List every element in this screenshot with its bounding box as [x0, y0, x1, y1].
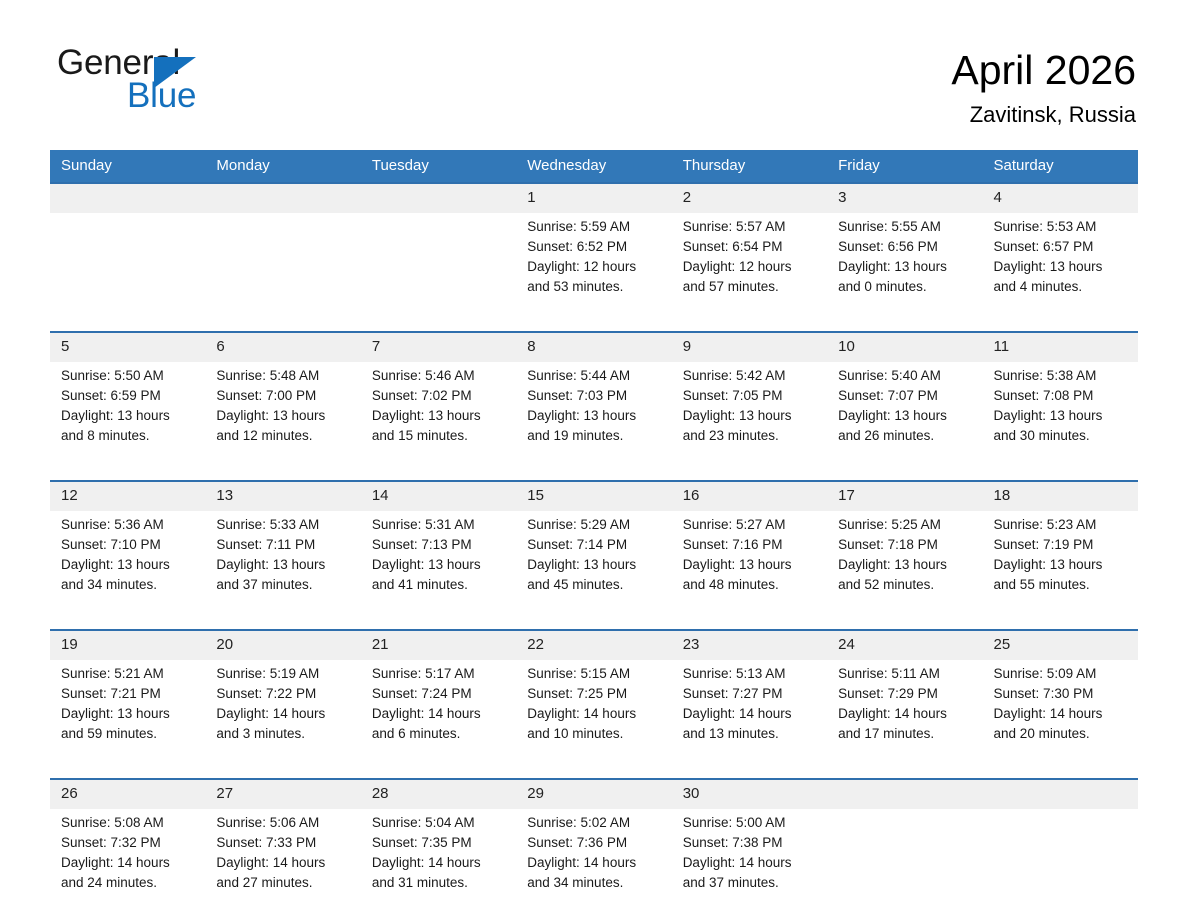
day-detail-line: Daylight: 14 hours [527, 853, 661, 873]
day-detail-line: Sunset: 7:05 PM [683, 386, 817, 406]
day-detail-line: and 55 minutes. [994, 575, 1128, 595]
weekday-header-row: Sunday Monday Tuesday Wednesday Thursday… [50, 150, 1138, 182]
day-detail-line: Sunset: 7:35 PM [372, 833, 506, 853]
day-detail-line: Daylight: 13 hours [994, 257, 1128, 277]
day-detail-line: Sunset: 7:27 PM [683, 684, 817, 704]
day-number[interactable]: 4 [983, 184, 1138, 213]
day-detail-line: Sunset: 7:33 PM [216, 833, 350, 853]
day-number[interactable]: 24 [827, 631, 982, 660]
day-detail-line: and 3 minutes. [216, 724, 350, 744]
day-number[interactable]: 19 [50, 631, 205, 660]
day-detail-line: and 57 minutes. [683, 277, 817, 297]
day-detail-line: Sunset: 7:36 PM [527, 833, 661, 853]
day-detail-line: Sunset: 6:56 PM [838, 237, 972, 257]
day-detail-cell[interactable]: Sunrise: 5:09 AMSunset: 7:30 PMDaylight:… [983, 660, 1138, 768]
day-detail-line: Daylight: 14 hours [216, 704, 350, 724]
day-detail-line: Sunrise: 5:57 AM [683, 217, 817, 237]
day-detail-cell[interactable]: Sunrise: 5:27 AMSunset: 7:16 PMDaylight:… [672, 511, 827, 619]
calendar-head: Sunday Monday Tuesday Wednesday Thursday… [50, 150, 1138, 182]
day-detail-line: Daylight: 13 hours [61, 406, 195, 426]
day-detail-line: and 4 minutes. [994, 277, 1128, 297]
day-detail-line: Sunrise: 5:33 AM [216, 515, 350, 535]
week-gap-cell [50, 768, 1138, 778]
day-detail-line: Daylight: 13 hours [527, 406, 661, 426]
day-number[interactable]: 12 [50, 482, 205, 511]
day-detail-line: Daylight: 14 hours [683, 853, 817, 873]
day-detail-line: Sunset: 6:57 PM [994, 237, 1128, 257]
day-number[interactable]: 17 [827, 482, 982, 511]
day-detail-line: Sunrise: 5:25 AM [838, 515, 972, 535]
week-gap [50, 619, 1138, 629]
day-detail-line: Sunrise: 5:42 AM [683, 366, 817, 386]
day-detail-line: Daylight: 14 hours [61, 853, 195, 873]
week-gap-cell [50, 619, 1138, 629]
day-number[interactable]: 26 [50, 780, 205, 809]
day-detail-line: and 10 minutes. [527, 724, 661, 744]
weekday-header-wednesday: Wednesday [516, 150, 671, 182]
day-number[interactable]: 11 [983, 333, 1138, 362]
day-detail-line: Sunrise: 5:23 AM [994, 515, 1128, 535]
day-detail-line: Sunrise: 5:17 AM [372, 664, 506, 684]
day-detail-line: Sunset: 7:24 PM [372, 684, 506, 704]
day-detail-line: Sunrise: 5:11 AM [838, 664, 972, 684]
calendar-body: 1234Sunrise: 5:59 AMSunset: 6:52 PMDayli… [50, 182, 1138, 917]
day-number[interactable]: 6 [205, 333, 360, 362]
day-detail-line: Daylight: 13 hours [994, 406, 1128, 426]
day-detail-cell[interactable]: Sunrise: 5:46 AMSunset: 7:02 PMDaylight:… [361, 362, 516, 470]
day-number-empty [205, 184, 360, 213]
day-detail-line: Sunset: 6:59 PM [61, 386, 195, 406]
day-number-empty [827, 780, 982, 809]
day-detail-line: Sunset: 7:19 PM [994, 535, 1128, 555]
day-detail-line: Sunrise: 5:48 AM [216, 366, 350, 386]
day-detail-cell[interactable]: Sunrise: 5:40 AMSunset: 7:07 PMDaylight:… [827, 362, 982, 470]
day-detail-cell-empty [827, 809, 982, 917]
day-detail-cell[interactable]: Sunrise: 5:48 AMSunset: 7:00 PMDaylight:… [205, 362, 360, 470]
day-detail-line: Sunset: 7:07 PM [838, 386, 972, 406]
day-detail-line: and 6 minutes. [372, 724, 506, 744]
general-blue-logo[interactable]: General Blue [57, 44, 287, 124]
day-detail-line: Sunrise: 5:55 AM [838, 217, 972, 237]
day-number[interactable]: 18 [983, 482, 1138, 511]
day-detail-line: Sunrise: 5:06 AM [216, 813, 350, 833]
day-detail-line: and 20 minutes. [994, 724, 1128, 744]
day-number[interactable]: 10 [827, 333, 982, 362]
day-detail-line: Daylight: 13 hours [216, 406, 350, 426]
day-detail-cell[interactable]: Sunrise: 5:38 AMSunset: 7:08 PMDaylight:… [983, 362, 1138, 470]
page-header: General Blue April 2026 Zavitinsk, Russi… [0, 0, 1188, 150]
day-detail-line: and 45 minutes. [527, 575, 661, 595]
day-detail-line: and 17 minutes. [838, 724, 972, 744]
day-detail-line: and 27 minutes. [216, 873, 350, 893]
day-detail-line: Sunrise: 5:19 AM [216, 664, 350, 684]
day-detail-cell[interactable]: Sunrise: 5:57 AMSunset: 6:54 PMDaylight:… [672, 213, 827, 321]
day-detail-line: Daylight: 14 hours [372, 704, 506, 724]
day-number-empty [50, 184, 205, 213]
day-detail-cell[interactable]: Sunrise: 5:36 AMSunset: 7:10 PMDaylight:… [50, 511, 205, 619]
day-number[interactable]: 23 [672, 631, 827, 660]
day-detail-line: and 30 minutes. [994, 426, 1128, 446]
day-detail-line: and 19 minutes. [527, 426, 661, 446]
day-detail-row: Sunrise: 5:50 AMSunset: 6:59 PMDaylight:… [50, 362, 1138, 470]
day-number[interactable]: 9 [672, 333, 827, 362]
calendar-table: Sunday Monday Tuesday Wednesday Thursday… [50, 150, 1138, 917]
day-number-row: 12131415161718 [50, 482, 1138, 511]
day-number[interactable]: 25 [983, 631, 1138, 660]
day-detail-line: and 34 minutes. [527, 873, 661, 893]
day-detail-cell[interactable]: Sunrise: 5:50 AMSunset: 6:59 PMDaylight:… [50, 362, 205, 470]
day-detail-row: Sunrise: 5:59 AMSunset: 6:52 PMDaylight:… [50, 213, 1138, 321]
weekday-header-friday: Friday [827, 150, 982, 182]
day-detail-cell-empty [50, 213, 205, 321]
day-detail-line: Daylight: 12 hours [527, 257, 661, 277]
day-detail-line: Sunset: 7:38 PM [683, 833, 817, 853]
day-detail-cell[interactable]: Sunrise: 5:23 AMSunset: 7:19 PMDaylight:… [983, 511, 1138, 619]
day-detail-line: Sunset: 7:00 PM [216, 386, 350, 406]
day-number[interactable]: 2 [672, 184, 827, 213]
day-detail-line: Sunrise: 5:50 AM [61, 366, 195, 386]
day-detail-row: Sunrise: 5:08 AMSunset: 7:32 PMDaylight:… [50, 809, 1138, 917]
day-number[interactable]: 14 [361, 482, 516, 511]
day-detail-cell-empty [983, 809, 1138, 917]
day-detail-cell[interactable]: Sunrise: 5:21 AMSunset: 7:21 PMDaylight:… [50, 660, 205, 768]
day-detail-line: Daylight: 14 hours [683, 704, 817, 724]
day-detail-line: Sunset: 7:29 PM [838, 684, 972, 704]
day-number[interactable]: 16 [672, 482, 827, 511]
day-detail-line: Daylight: 14 hours [838, 704, 972, 724]
day-detail-line: Sunset: 7:32 PM [61, 833, 195, 853]
day-detail-cell[interactable]: Sunrise: 5:55 AMSunset: 6:56 PMDaylight:… [827, 213, 982, 321]
day-number[interactable]: 29 [516, 780, 671, 809]
day-detail-line: and 13 minutes. [683, 724, 817, 744]
day-detail-line: and 31 minutes. [372, 873, 506, 893]
day-number[interactable]: 20 [205, 631, 360, 660]
day-detail-line: Daylight: 13 hours [61, 704, 195, 724]
title-block: April 2026 Zavitinsk, Russia [951, 44, 1136, 130]
day-number-row: 1234 [50, 184, 1138, 213]
day-detail-line: Daylight: 14 hours [372, 853, 506, 873]
day-detail-line: Sunrise: 5:53 AM [994, 217, 1128, 237]
week-gap [50, 321, 1138, 331]
weekday-header-monday: Monday [205, 150, 360, 182]
day-detail-line: and 34 minutes. [61, 575, 195, 595]
day-detail-row: Sunrise: 5:36 AMSunset: 7:10 PMDaylight:… [50, 511, 1138, 619]
day-detail-cell[interactable]: Sunrise: 5:08 AMSunset: 7:32 PMDaylight:… [50, 809, 205, 917]
day-detail-cell[interactable]: Sunrise: 5:06 AMSunset: 7:33 PMDaylight:… [205, 809, 360, 917]
day-detail-line: and 59 minutes. [61, 724, 195, 744]
day-number[interactable]: 7 [361, 333, 516, 362]
day-detail-line: and 0 minutes. [838, 277, 972, 297]
day-detail-line: Sunrise: 5:59 AM [527, 217, 661, 237]
day-number[interactable]: 28 [361, 780, 516, 809]
day-detail-line: and 48 minutes. [683, 575, 817, 595]
day-detail-cell[interactable]: Sunrise: 5:15 AMSunset: 7:25 PMDaylight:… [516, 660, 671, 768]
day-detail-line: Sunrise: 5:36 AM [61, 515, 195, 535]
day-detail-row: Sunrise: 5:21 AMSunset: 7:21 PMDaylight:… [50, 660, 1138, 768]
day-detail-line: Daylight: 13 hours [372, 555, 506, 575]
day-detail-line: Sunset: 7:18 PM [838, 535, 972, 555]
day-detail-line: Daylight: 13 hours [527, 555, 661, 575]
day-number[interactable]: 27 [205, 780, 360, 809]
week-gap-cell [50, 470, 1138, 480]
day-detail-line: Sunset: 7:30 PM [994, 684, 1128, 704]
day-detail-cell[interactable]: Sunrise: 5:02 AMSunset: 7:36 PMDaylight:… [516, 809, 671, 917]
day-detail-line: Sunset: 7:13 PM [372, 535, 506, 555]
day-number-row: 2627282930 [50, 780, 1138, 809]
day-detail-line: Daylight: 13 hours [61, 555, 195, 575]
day-number-row: 19202122232425 [50, 631, 1138, 660]
week-gap [50, 768, 1138, 778]
logo-text-blue: Blue [127, 78, 287, 114]
day-detail-cell[interactable]: Sunrise: 5:19 AMSunset: 7:22 PMDaylight:… [205, 660, 360, 768]
weekday-header-sunday: Sunday [50, 150, 205, 182]
day-detail-cell[interactable]: Sunrise: 5:11 AMSunset: 7:29 PMDaylight:… [827, 660, 982, 768]
day-detail-cell[interactable]: Sunrise: 5:44 AMSunset: 7:03 PMDaylight:… [516, 362, 671, 470]
day-number[interactable]: 1 [516, 184, 671, 213]
day-detail-line: Daylight: 14 hours [994, 704, 1128, 724]
day-detail-line: and 26 minutes. [838, 426, 972, 446]
day-detail-line: Sunset: 7:21 PM [61, 684, 195, 704]
day-detail-line: and 23 minutes. [683, 426, 817, 446]
day-detail-line: Sunset: 7:16 PM [683, 535, 817, 555]
day-detail-line: Sunset: 7:02 PM [372, 386, 506, 406]
day-detail-line: and 12 minutes. [216, 426, 350, 446]
weekday-header-saturday: Saturday [983, 150, 1138, 182]
day-number-row: 567891011 [50, 333, 1138, 362]
day-detail-line: Sunrise: 5:15 AM [527, 664, 661, 684]
day-detail-line: Daylight: 13 hours [838, 406, 972, 426]
day-detail-line: Daylight: 14 hours [216, 853, 350, 873]
page-subtitle: Zavitinsk, Russia [951, 100, 1136, 130]
calendar-page: General Blue April 2026 Zavitinsk, Russi… [0, 0, 1188, 918]
day-detail-line: Daylight: 13 hours [683, 406, 817, 426]
day-detail-line: Sunset: 6:52 PM [527, 237, 661, 257]
day-detail-line: Sunset: 7:14 PM [527, 535, 661, 555]
day-detail-cell[interactable]: Sunrise: 5:53 AMSunset: 6:57 PMDaylight:… [983, 213, 1138, 321]
day-detail-line: and 41 minutes. [372, 575, 506, 595]
day-detail-line: Sunset: 7:10 PM [61, 535, 195, 555]
day-detail-line: Sunrise: 5:44 AM [527, 366, 661, 386]
day-detail-line: Daylight: 13 hours [838, 555, 972, 575]
day-detail-cell[interactable]: Sunrise: 5:42 AMSunset: 7:05 PMDaylight:… [672, 362, 827, 470]
day-detail-line: Sunrise: 5:38 AM [994, 366, 1128, 386]
week-gap-cell [50, 321, 1138, 331]
day-detail-line: and 24 minutes. [61, 873, 195, 893]
day-detail-line: Sunrise: 5:08 AM [61, 813, 195, 833]
day-detail-line: Daylight: 12 hours [683, 257, 817, 277]
day-detail-line: and 8 minutes. [61, 426, 195, 446]
day-number[interactable]: 15 [516, 482, 671, 511]
day-detail-line: Sunrise: 5:04 AM [372, 813, 506, 833]
week-gap [50, 470, 1138, 480]
day-detail-line: Sunset: 7:25 PM [527, 684, 661, 704]
day-detail-line: Sunrise: 5:09 AM [994, 664, 1128, 684]
day-detail-line: Sunrise: 5:00 AM [683, 813, 817, 833]
triangle-icon [154, 57, 196, 88]
day-detail-cell[interactable]: Sunrise: 5:31 AMSunset: 7:13 PMDaylight:… [361, 511, 516, 619]
day-detail-line: and 15 minutes. [372, 426, 506, 446]
day-detail-line: and 37 minutes. [683, 873, 817, 893]
day-detail-line: Sunrise: 5:31 AM [372, 515, 506, 535]
day-number-empty [361, 184, 516, 213]
day-detail-line: Sunset: 6:54 PM [683, 237, 817, 257]
day-number[interactable]: 30 [672, 780, 827, 809]
day-detail-line: and 53 minutes. [527, 277, 661, 297]
day-detail-line: Daylight: 13 hours [838, 257, 972, 277]
day-detail-cell[interactable]: Sunrise: 5:04 AMSunset: 7:35 PMDaylight:… [361, 809, 516, 917]
day-detail-line: Sunset: 7:03 PM [527, 386, 661, 406]
day-detail-line: Sunset: 7:11 PM [216, 535, 350, 555]
day-detail-cell[interactable]: Sunrise: 5:13 AMSunset: 7:27 PMDaylight:… [672, 660, 827, 768]
day-detail-line: Daylight: 14 hours [527, 704, 661, 724]
day-detail-line: Sunrise: 5:21 AM [61, 664, 195, 684]
weekday-header-tuesday: Tuesday [361, 150, 516, 182]
day-detail-line: Sunrise: 5:29 AM [527, 515, 661, 535]
day-number[interactable]: 13 [205, 482, 360, 511]
day-detail-cell[interactable]: Sunrise: 5:17 AMSunset: 7:24 PMDaylight:… [361, 660, 516, 768]
day-detail-line: Daylight: 13 hours [216, 555, 350, 575]
day-detail-cell[interactable]: Sunrise: 5:25 AMSunset: 7:18 PMDaylight:… [827, 511, 982, 619]
day-detail-line: and 52 minutes. [838, 575, 972, 595]
day-detail-line: and 37 minutes. [216, 575, 350, 595]
day-detail-cell[interactable]: Sunrise: 5:33 AMSunset: 7:11 PMDaylight:… [205, 511, 360, 619]
day-detail-line: Sunrise: 5:02 AM [527, 813, 661, 833]
day-detail-line: Sunrise: 5:13 AM [683, 664, 817, 684]
day-detail-line: Daylight: 13 hours [994, 555, 1128, 575]
day-number[interactable]: 21 [361, 631, 516, 660]
day-detail-cell[interactable]: Sunrise: 5:59 AMSunset: 6:52 PMDaylight:… [516, 213, 671, 321]
day-detail-line: Sunrise: 5:46 AM [372, 366, 506, 386]
day-number[interactable]: 3 [827, 184, 982, 213]
day-number[interactable]: 8 [516, 333, 671, 362]
weekday-header-thursday: Thursday [672, 150, 827, 182]
day-number[interactable]: 22 [516, 631, 671, 660]
day-number[interactable]: 5 [50, 333, 205, 362]
day-detail-line: Sunset: 7:22 PM [216, 684, 350, 704]
day-number-empty [983, 780, 1138, 809]
day-detail-line: Sunset: 7:08 PM [994, 386, 1128, 406]
day-detail-line: Daylight: 13 hours [683, 555, 817, 575]
day-detail-line: Daylight: 13 hours [372, 406, 506, 426]
day-detail-line: Sunrise: 5:40 AM [838, 366, 972, 386]
day-detail-cell[interactable]: Sunrise: 5:29 AMSunset: 7:14 PMDaylight:… [516, 511, 671, 619]
day-detail-cell-empty [205, 213, 360, 321]
page-title: April 2026 [951, 46, 1136, 94]
day-detail-cell-empty [361, 213, 516, 321]
day-detail-cell[interactable]: Sunrise: 5:00 AMSunset: 7:38 PMDaylight:… [672, 809, 827, 917]
day-detail-line: Sunrise: 5:27 AM [683, 515, 817, 535]
